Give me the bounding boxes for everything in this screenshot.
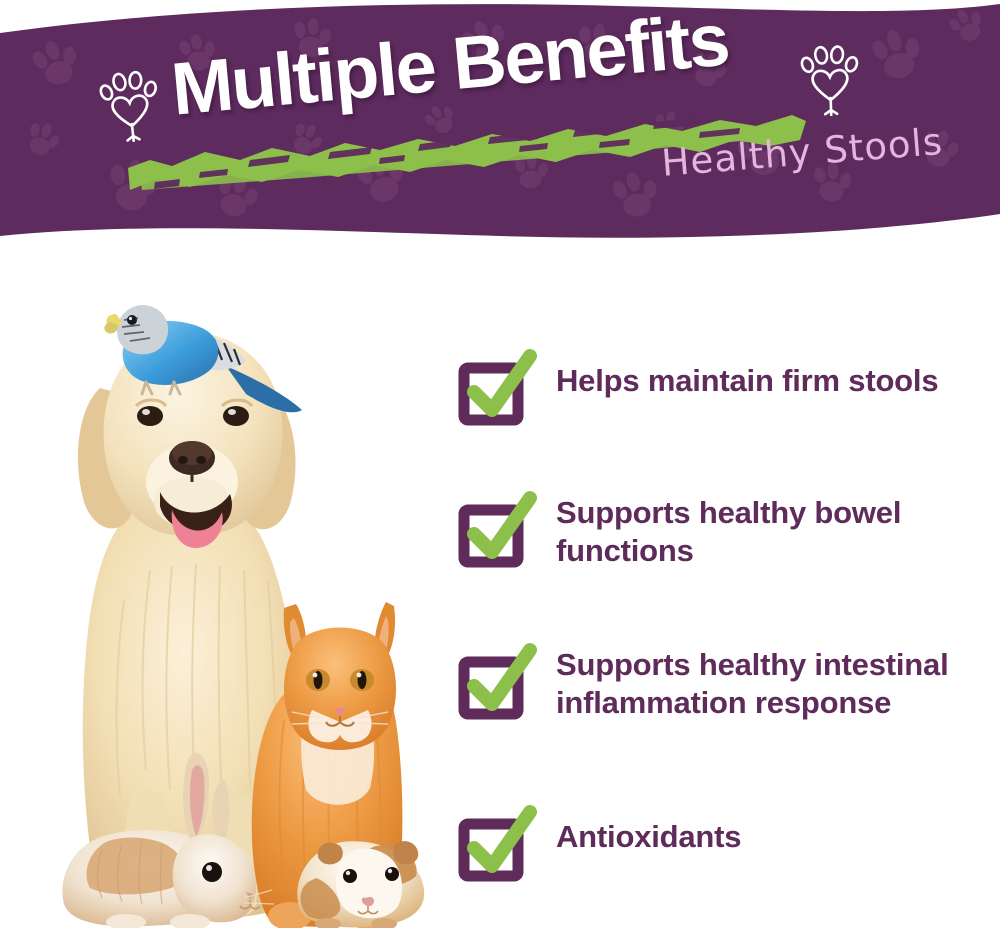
benefit-label: Supports healthy intestinal inflammation… — [556, 642, 996, 722]
checkbox-checked-icon — [450, 490, 538, 572]
benefit-item: Antioxidants — [450, 804, 741, 886]
benefit-label: Supports healthy bowel functions — [556, 490, 996, 570]
checkbox-checked-icon — [450, 642, 538, 724]
pets-photo — [40, 270, 440, 928]
checkbox-checked-icon — [450, 348, 538, 430]
checkbox-checked-icon — [450, 804, 538, 886]
benefit-label: Antioxidants — [556, 804, 741, 856]
header-banner: Multiple Benefits Healthy Stools — [0, 0, 1000, 250]
benefit-item: Helps maintain firm stools — [450, 348, 938, 430]
benefit-item: Supports healthy intestinal inflammation… — [450, 642, 996, 724]
benefit-label: Helps maintain firm stools — [556, 348, 938, 400]
benefit-item: Supports healthy bowel functions — [450, 490, 996, 572]
